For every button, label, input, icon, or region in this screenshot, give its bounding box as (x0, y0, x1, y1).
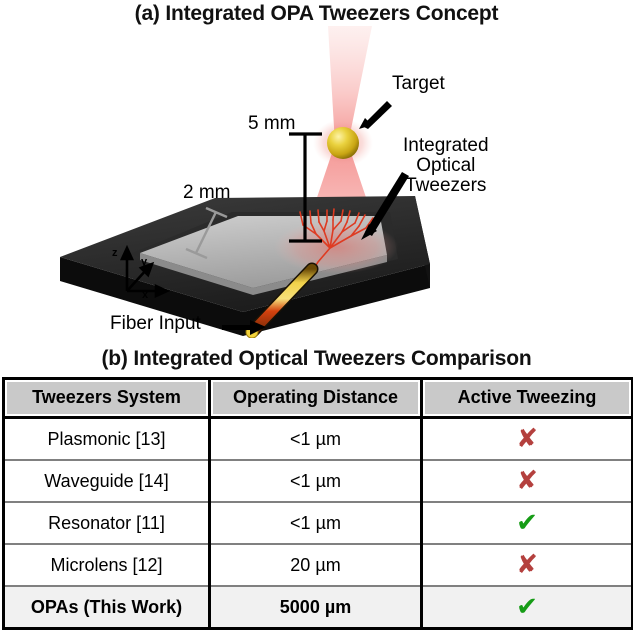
cell-system: Waveguide [14] (4, 460, 210, 502)
cell-system: Microlens [12] (4, 544, 210, 586)
tweezers-comparison-table: Tweezers System Operating Distance Activ… (2, 377, 633, 630)
table-row: Plasmonic [13]<1 µm✘ (4, 418, 633, 461)
label-chip-dimension: 2 mm (183, 183, 231, 203)
table-header-row: Tweezers System Operating Distance Activ… (4, 379, 633, 418)
column-header-active: Active Tweezing (422, 379, 633, 418)
cell-active-tweezing: ✘ (422, 544, 633, 586)
table-row: Microlens [12]20 µm✘ (4, 544, 633, 586)
cell-system: Plasmonic [13] (4, 418, 210, 461)
table-body: Plasmonic [13]<1 µm✘Waveguide [14]<1 µm✘… (4, 418, 633, 629)
target-sphere (327, 127, 359, 159)
cross-icon: ✘ (516, 427, 538, 450)
label-axis-z: z (112, 248, 118, 259)
table-row: OPAs (This Work)5000 µm✔ (4, 586, 633, 629)
cell-active-tweezing: ✘ (422, 418, 633, 461)
panel-a-title: (a) Integrated OPA Tweezers Concept (0, 2, 633, 26)
cell-operating-distance: 20 µm (210, 544, 422, 586)
cell-active-tweezing: ✔ (422, 586, 633, 629)
column-header-distance: Operating Distance (210, 379, 422, 418)
check-icon: ✔ (516, 511, 538, 534)
table-row: Resonator [11]<1 µm✔ (4, 502, 633, 544)
column-header-system: Tweezers System (4, 379, 210, 418)
cell-system: Resonator [11] (4, 502, 210, 544)
concept-diagram-svg (0, 26, 633, 338)
cell-system: OPAs (This Work) (4, 586, 210, 629)
cell-operating-distance: <1 µm (210, 460, 422, 502)
label-axis-y: y (141, 257, 147, 268)
cross-icon: ✘ (516, 553, 538, 576)
cell-operating-distance: 5000 µm (210, 586, 422, 629)
check-icon: ✔ (516, 595, 538, 618)
cell-active-tweezing: ✘ (422, 460, 633, 502)
table-row: Waveguide [14]<1 µm✘ (4, 460, 633, 502)
label-height-dimension: 5 mm (248, 114, 296, 134)
cell-operating-distance: <1 µm (210, 502, 422, 544)
label-integrated-optical-tweezers: Integrated Optical Tweezers (403, 136, 489, 195)
label-axis-x: x (142, 290, 148, 301)
cell-active-tweezing: ✔ (422, 502, 633, 544)
cross-icon: ✘ (516, 469, 538, 492)
label-target: Target (392, 74, 445, 94)
panel-b-title: (b) Integrated Optical Tweezers Comparis… (0, 347, 633, 371)
cell-operating-distance: <1 µm (210, 418, 422, 461)
label-fiber-input: Fiber Input (110, 314, 201, 334)
tweezers-comparison-panel: Tweezers System Operating Distance Activ… (0, 377, 633, 615)
opa-tweezers-concept-illustration: Target Integrated Optical Tweezers Fiber… (0, 26, 633, 338)
